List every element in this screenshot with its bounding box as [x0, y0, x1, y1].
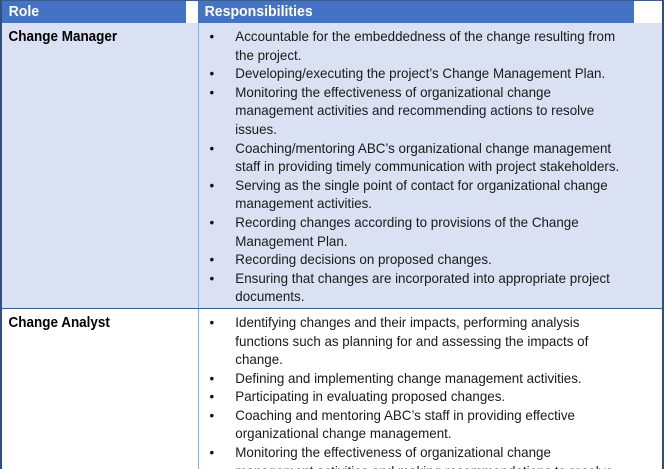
responsibilities-cell: •Identifying changes and their impacts, …: [198, 308, 662, 469]
responsibility-item: •Coaching/mentoring ABC’s organizational…: [199, 139, 636, 176]
responsibility-item: •Identifying changes and their impacts, …: [199, 313, 636, 369]
table-body: Change Manager •Accountable for the embe…: [2, 23, 662, 469]
table: Role Responsibilities Change Manager •Ac…: [2, 1, 662, 469]
responsibility-item: •Developing/executing the project’s Chan…: [199, 64, 636, 83]
responsibility-text: Recording changes according to provision…: [235, 214, 578, 249]
bullet-icon: •: [209, 313, 214, 332]
responsibility-item: •Defining and implementing change manage…: [199, 369, 636, 388]
responsibility-item: •Recording decisions on proposed changes…: [199, 250, 636, 269]
responsibility-text: Ensuring that changes are incorporated i…: [235, 270, 610, 305]
responsibility-text: Defining and implementing change managem…: [235, 370, 581, 386]
header-row: Role Responsibilities: [2, 1, 662, 23]
table-row: Change Analyst •Identifying changes and …: [2, 308, 662, 469]
responsibilities-cell: •Accountable for the embeddedness of the…: [198, 23, 662, 308]
bullet-icon: •: [209, 139, 214, 158]
responsibility-text: Coaching/mentoring ABC’s organizational …: [235, 140, 619, 175]
responsibility-item: •Serving as the single point of contact …: [199, 176, 636, 213]
responsibility-list: •Accountable for the embeddedness of the…: [199, 27, 657, 306]
responsibility-text: Coaching and mentoring ABC’s staff in pr…: [235, 407, 575, 442]
responsibility-item: •Monitoring the effectiveness of organiz…: [199, 83, 636, 139]
bullet-icon: •: [209, 64, 214, 83]
responsibility-item: •Ensuring that changes are incorporated …: [199, 269, 636, 306]
role-label: Change Manager: [2, 23, 184, 47]
responsibility-item: •Coaching and mentoring ABC’s staff in p…: [199, 406, 636, 443]
responsibility-text: Participating in evaluating proposed cha…: [235, 388, 505, 404]
responsibility-item: •Recording changes according to provisio…: [199, 213, 636, 250]
responsibility-item: •Monitoring the effectiveness of organiz…: [199, 443, 636, 469]
responsibility-text: Monitoring the effectiveness of organiza…: [235, 444, 613, 469]
responsibility-item: •Accountable for the embeddedness of the…: [199, 27, 636, 64]
responsibility-text: Accountable for the embeddedness of the …: [235, 28, 615, 63]
role-label: Change Analyst: [2, 309, 184, 333]
bullet-icon: •: [209, 27, 214, 46]
responsibility-text: Serving as the single point of contact f…: [235, 177, 607, 212]
bullet-icon: •: [209, 176, 214, 195]
bullet-icon: •: [209, 250, 214, 269]
column-header-responsibilities: Responsibilities: [198, 1, 634, 23]
role-cell: Change Manager: [2, 23, 198, 308]
responsibility-text: Recording decisions on proposed changes.: [235, 251, 491, 267]
bullet-icon: •: [209, 369, 214, 388]
responsibility-text: Developing/executing the project’s Chang…: [235, 65, 605, 81]
responsibility-list: •Identifying changes and their impacts, …: [199, 313, 657, 469]
roles-responsibilities-table: Role Responsibilities Change Manager •Ac…: [0, 0, 664, 469]
table-row: Change Manager •Accountable for the embe…: [2, 23, 662, 308]
bullet-icon: •: [209, 387, 214, 406]
role-cell: Change Analyst: [2, 308, 198, 469]
column-header-role: Role: [2, 1, 186, 23]
responsibility-text: Identifying changes and their impacts, p…: [235, 314, 588, 367]
bullet-icon: •: [209, 213, 214, 232]
table-header: Role Responsibilities: [2, 1, 662, 23]
bullet-icon: •: [209, 443, 214, 462]
responsibility-item: •Participating in evaluating proposed ch…: [199, 387, 636, 406]
responsibility-text: Monitoring the effectiveness of organiza…: [235, 84, 594, 137]
bullet-icon: •: [209, 83, 214, 102]
bullet-icon: •: [209, 406, 214, 425]
bullet-icon: •: [209, 269, 214, 288]
